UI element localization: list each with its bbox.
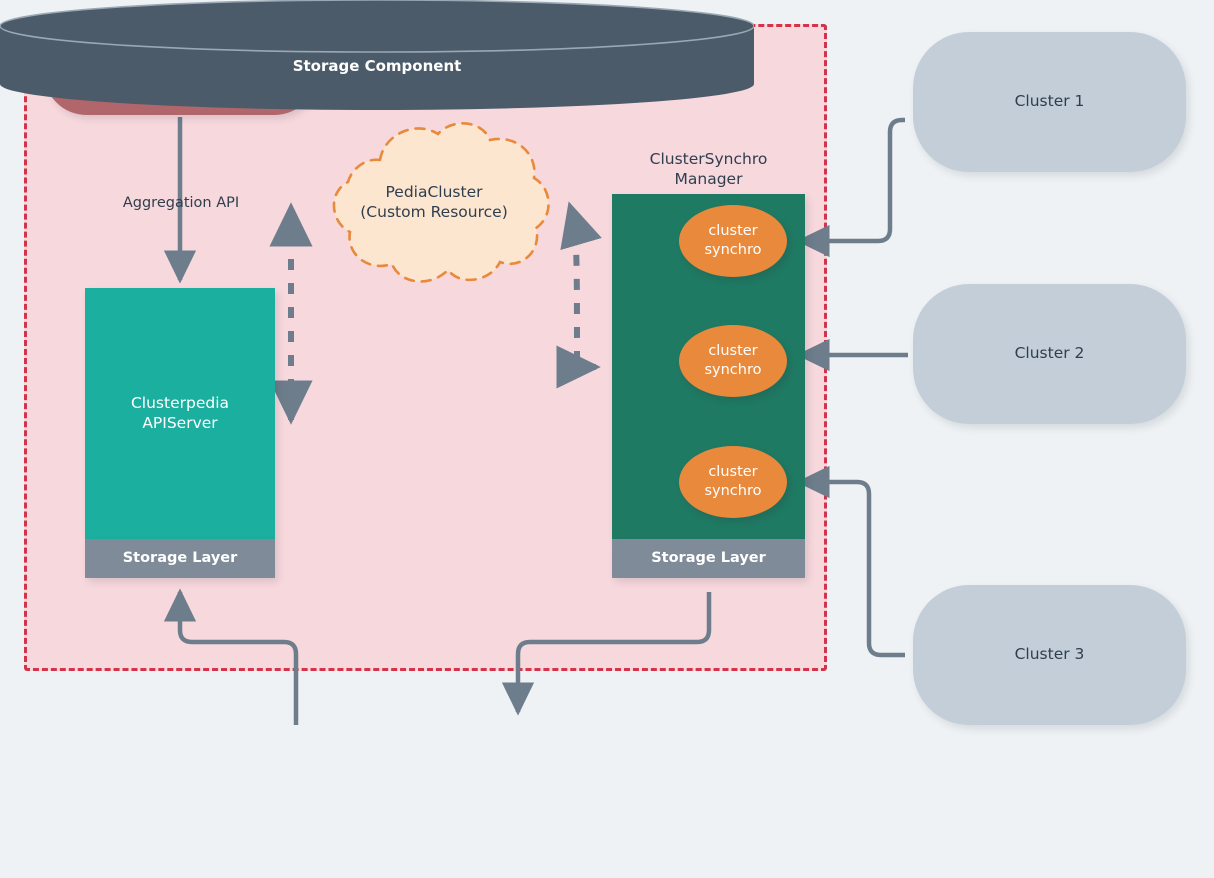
clusterpedia-apiserver-label: Clusterpedia APIServer — [131, 394, 229, 434]
cluster-synchro-node[interactable]: cluster synchro — [679, 205, 787, 277]
clustersynchro-storage-layer-label: Storage Layer — [651, 549, 766, 568]
cluster-label: Cluster 3 — [1015, 645, 1085, 665]
aggregation-api-label: Aggregation API — [108, 192, 254, 214]
pediacluster-node[interactable]: PediaCluster (Custom Resource) — [306, 110, 562, 295]
clusterpedia-storage-layer-label: Storage Layer — [123, 549, 238, 568]
storage-component-label: Storage Component — [0, 0, 754, 110]
clusterpedia-storage-layer[interactable]: Storage Layer — [85, 539, 275, 578]
edge-cluster3-to-synchro — [800, 482, 905, 655]
cluster-label: Cluster 2 — [1015, 344, 1085, 364]
cluster-synchro-label: cluster synchro — [704, 342, 761, 379]
cluster-synchro-node[interactable]: cluster synchro — [679, 446, 787, 518]
clustersynchro-manager-title: ClusterSynchro Manager — [612, 146, 805, 194]
cluster-node[interactable]: Cluster 2 — [913, 284, 1186, 424]
pediacluster-label: PediaCluster (Custom Resource) — [360, 183, 508, 223]
cluster-synchro-label: cluster synchro — [704, 463, 761, 500]
cluster-node[interactable]: Cluster 3 — [913, 585, 1186, 725]
cluster-synchro-label: cluster synchro — [704, 222, 761, 259]
edge-cluster1-to-synchro — [800, 120, 905, 241]
clustersynchro-storage-layer[interactable]: Storage Layer — [612, 539, 805, 578]
diagram-canvas: Kube APIServer Aggregation API PediaClus… — [0, 0, 1214, 878]
clusterpedia-apiserver-node[interactable]: Clusterpedia APIServer — [85, 288, 275, 539]
cluster-node[interactable]: Cluster 1 — [913, 32, 1186, 172]
storage-component-node[interactable]: Storage Component — [0, 0, 754, 110]
edge-synchro-pediacluster — [570, 206, 577, 362]
edge-storage-to-clusterpedia — [180, 592, 296, 725]
cluster-label: Cluster 1 — [1015, 92, 1085, 112]
edge-clustersynchro-to-storage — [518, 592, 709, 712]
cluster-synchro-node[interactable]: cluster synchro — [679, 325, 787, 397]
edge-pediacluster-synchro — [577, 355, 596, 367]
